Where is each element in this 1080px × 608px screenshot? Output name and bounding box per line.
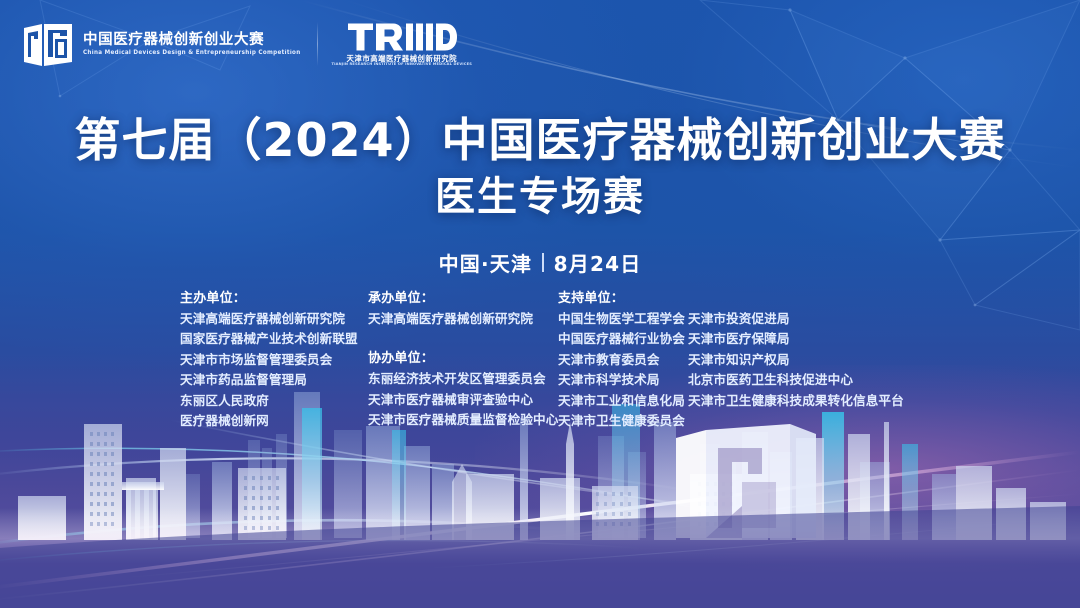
list-item: 天津市卫生健康科技成果转化信息平台 [688,391,900,411]
competition-logo-title-en: China Medical Devices Design & Entrepren… [83,51,301,57]
poster-canvas: 中国医疗器械创新创业大赛 China Medical Devices Desig… [0,0,1080,608]
list-item: 天津高端医疗器械创新研究院 [180,309,368,329]
list-item: 东丽区人民政府 [180,391,368,411]
spacer [368,329,558,348]
triid-logo-title-cn: 天津市高端医疗器械创新研究院 [347,55,457,62]
list-item: 天津市医疗器械质量监督检验中心 [368,410,558,430]
triid-logo-title-en: TIANJIN RESEARCH INSTITUTE OF INNOVATIVE… [332,63,472,67]
organizer-column-host: 主办单位： 天津高端医疗器械创新研究院 国家医疗器械产业技术创新联盟 天津市市场… [180,288,368,431]
meta-separator-icon [542,253,544,272]
list-item: 天津市医疗器械审评查验中心 [368,390,558,410]
triid-wordmark-icon [347,20,457,54]
group-title-spacer [688,288,900,309]
list-item: 天津高端医疗器械创新研究院 [368,309,558,329]
competition-logo-title-cn: 中国医疗器械创新创业大赛 [83,33,301,48]
list-item: 天津市工业和信息化局 [558,391,688,411]
group-title: 主办单位： [180,288,368,309]
event-date: 8月24日 [554,248,642,277]
group-title: 承办单位： [368,288,558,309]
list-item: 北京市医药卫生科技促进中心 [688,370,900,390]
list-item: 天津市投资促进局 [688,309,900,329]
competition-logo: 中国医疗器械创新创业大赛 China Medical Devices Desig… [22,22,301,68]
poster-title-sub: 医生专场赛 [0,172,1080,222]
list-item: 东丽经济技术开发区管理委员会 [368,369,558,389]
list-item: 医疗器械创新网 [180,411,368,431]
event-meta: 中国·天津 8月24日 [0,248,1080,277]
list-item: 中国生物医学工程学会 [558,309,688,329]
list-item: 天津市知识产权局 [688,350,900,370]
organizers-block: 主办单位： 天津高端医疗器械创新研究院 国家医疗器械产业技术创新联盟 天津市市场… [0,288,1080,431]
list-item: 天津市教育委员会 [558,350,688,370]
list-item: 天津市药品监督管理局 [180,370,368,390]
organizer-column-organizer: 承办单位： 天津高端医疗器械创新研究院 协办单位： 东丽经济技术开发区管理委员会… [368,288,558,431]
list-item: 天津市卫生健康委员会 [558,411,688,431]
group-title: 协办单位： [368,348,558,369]
headline-block: 第七届（2024）中国医疗器械创新创业大赛 医生专场赛 中国·天津 8月24日 [0,112,1080,277]
list-item: 中国医疗器械行业协会 [558,329,688,349]
list-item: 国家医疗器械产业技术创新联盟 [180,329,368,349]
poster-title-main: 第七届（2024）中国医疗器械创新创业大赛 [0,112,1080,168]
list-item: 天津市市场监督管理委员会 [180,350,368,370]
logo-divider [317,22,318,66]
logo-bar: 中国医疗器械创新创业大赛 China Medical Devices Desig… [22,22,472,68]
triid-logo: 天津市高端医疗器械创新研究院 TIANJIN RESEARCH INSTITUT… [332,20,472,67]
organizer-column-support-b: 天津市投资促进局 天津市医疗保障局 天津市知识产权局 北京市医药卫生科技促进中心… [688,288,900,431]
list-item: 天津市医疗保障局 [688,329,900,349]
open-door-gate-icon [22,22,74,68]
organizer-column-support-a: 支持单位： 中国生物医学工程学会 中国医疗器械行业协会 天津市教育委员会 天津市… [558,288,688,431]
event-location: 中国·天津 [439,248,533,277]
group-title: 支持单位： [558,288,688,309]
list-item: 天津市科学技术局 [558,370,688,390]
